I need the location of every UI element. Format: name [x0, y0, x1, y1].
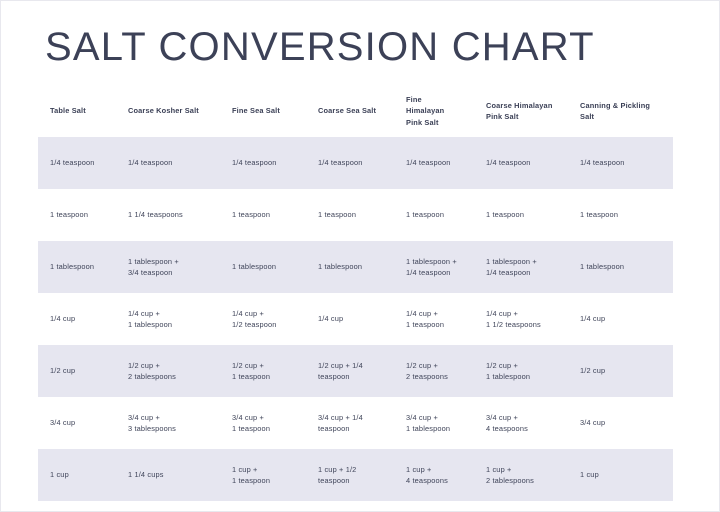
- table-cell-coarse_himalayan_pink_salt: 1/4 cup +1 1/2 teaspoons: [474, 308, 568, 331]
- table-cell-line: 4 teaspoons: [406, 475, 466, 487]
- table-cell-coarse_himalayan_pink_salt: 1 teaspoon: [474, 209, 568, 221]
- table-cell-line: 3/4 cup + 1/4: [318, 412, 386, 424]
- table-cell-line: 1 teaspoon: [50, 209, 108, 221]
- table-cell-line: 1/4 teaspoon: [580, 157, 665, 169]
- table-cell-line: 1 tablespoon: [50, 261, 108, 273]
- column-header-coarse_himalayan_pink_salt: Coarse HimalayanPink Salt: [474, 100, 568, 123]
- column-header-line: Himalayan: [406, 105, 466, 117]
- table-cell-line: 3/4 cup +: [486, 412, 560, 424]
- table-cell-coarse_sea_salt: 1/4 teaspoon: [306, 157, 394, 169]
- table-cell-fine_sea_salt: 1/2 cup +1 teaspoon: [220, 360, 306, 383]
- table-cell-line: 1 teaspoon: [318, 209, 386, 221]
- table-cell-fine_sea_salt: 1/4 teaspoon: [220, 157, 306, 169]
- table-cell-fine_himalayan_pink_salt: 1/4 teaspoon: [394, 157, 474, 169]
- table-cell-table_salt: 1/4 cup: [38, 313, 116, 325]
- table-cell-coarse_kosher_salt: 1 1/4 teaspoons: [116, 209, 220, 221]
- table-cell-canning_pickling_salt: 1 tablespoon: [568, 261, 673, 273]
- column-header-line: Table Salt: [50, 105, 108, 117]
- table-cell-line: 1 cup: [580, 469, 665, 481]
- table-cell-fine_himalayan_pink_salt: 1/4 cup +1 teaspoon: [394, 308, 474, 331]
- table-cell-line: 1 teaspoon: [486, 209, 560, 221]
- table-cell-line: 3/4 cup: [580, 417, 665, 429]
- column-header-line: Pink Salt: [486, 111, 560, 123]
- table-cell-coarse_himalayan_pink_salt: 1 tablespoon +1/4 teaspoon: [474, 256, 568, 279]
- table-cell-fine_himalayan_pink_salt: 1 teaspoon: [394, 209, 474, 221]
- table-cell-line: 1 tablespoon: [232, 261, 298, 273]
- table-row: 1 tablespoon1 tablespoon +3/4 teaspoon1 …: [38, 241, 673, 293]
- table-cell-line: 1/2 cup +: [232, 360, 298, 372]
- column-header-line: Coarse Kosher Salt: [128, 105, 212, 117]
- table-cell-line: 1 tablespoon: [128, 319, 212, 331]
- table-cell-fine_himalayan_pink_salt: 3/4 cup +1 tablespoon: [394, 412, 474, 435]
- table-cell-line: 1/4 teaspoon: [128, 157, 212, 169]
- table-cell-line: 1 tablespoon: [580, 261, 665, 273]
- column-header-fine_himalayan_pink_salt: FineHimalayanPink Salt: [394, 94, 474, 129]
- table-cell-table_salt: 1 cup: [38, 469, 116, 481]
- table-cell-coarse_kosher_salt: 1 tablespoon +3/4 teaspoon: [116, 256, 220, 279]
- table-cell-coarse_sea_salt: 1 teaspoon: [306, 209, 394, 221]
- table-cell-table_salt: 1/2 cup: [38, 365, 116, 377]
- table-cell-fine_himalayan_pink_salt: 1 cup +4 teaspoons: [394, 464, 474, 487]
- table-cell-line: 1 tablespoon +: [486, 256, 560, 268]
- table-row: 1 cup1 1/4 cups1 cup +1 teaspoon1 cup + …: [38, 449, 673, 501]
- column-header-coarse_kosher_salt: Coarse Kosher Salt: [116, 105, 220, 117]
- table-cell-line: 1/2 cup: [50, 365, 108, 377]
- table-cell-line: 1/4 teaspoon: [486, 267, 560, 279]
- table-cell-table_salt: 3/4 cup: [38, 417, 116, 429]
- table-cell-line: 1 1/2 teaspoons: [486, 319, 560, 331]
- table-cell-fine_sea_salt: 1/4 cup +1/2 teaspoon: [220, 308, 306, 331]
- table-cell-line: 1 teaspoon: [406, 319, 466, 331]
- table-cell-line: 1/2 cup +: [406, 360, 466, 372]
- table-cell-fine_himalayan_pink_salt: 1 tablespoon +1/4 teaspoon: [394, 256, 474, 279]
- table-cell-canning_pickling_salt: 1 cup: [568, 469, 673, 481]
- table-cell-line: 2 tablespoons: [486, 475, 560, 487]
- conversion-table: Table SaltCoarse Kosher SaltFine Sea Sal…: [38, 85, 673, 512]
- table-cell-coarse_kosher_salt: 1/4 teaspoon: [116, 157, 220, 169]
- table-cell-line: 3/4 cup +: [406, 412, 466, 424]
- table-cell-line: 1/4 teaspoon: [406, 267, 466, 279]
- table-cell-line: 3/4 cup +: [232, 412, 298, 424]
- table-cell-table_salt: 1 tablespoon: [38, 261, 116, 273]
- table-cell-line: 1/2 cup +: [486, 360, 560, 372]
- table-cell-line: 1 cup +: [486, 464, 560, 476]
- table-cell-coarse_himalayan_pink_salt: 1/2 cup +1 tablespoon: [474, 360, 568, 383]
- table-cell-line: 1/4 cup +: [128, 308, 212, 320]
- column-header-line: Fine: [406, 94, 466, 106]
- table-cell-line: 4 teaspoons: [486, 423, 560, 435]
- table-cell-line: 1 cup: [50, 469, 108, 481]
- column-header-line: Fine Sea Salt: [232, 105, 298, 117]
- table-cell-line: 1 cup + 1/2: [318, 464, 386, 476]
- table-cell-line: 1/4 teaspoon: [232, 157, 298, 169]
- column-header-canning_pickling_salt: Canning & PicklingSalt: [568, 100, 673, 123]
- table-cell-line: 1 1/4 teaspoons: [128, 209, 212, 221]
- table-cell-line: 1/4 cup: [318, 313, 386, 325]
- column-header-table_salt: Table Salt: [38, 105, 116, 117]
- table-cell-line: 3/4 teaspoon: [128, 267, 212, 279]
- table-cell-fine_sea_salt: 1 tablespoon: [220, 261, 306, 273]
- table-cell-coarse_kosher_salt: 1/2 cup +2 tablespoons: [116, 360, 220, 383]
- table-cell-line: 1 1/4 cups: [128, 469, 212, 481]
- table-cell-coarse_himalayan_pink_salt: 1/4 teaspoon: [474, 157, 568, 169]
- table-cell-coarse_sea_salt: 1/4 cup: [306, 313, 394, 325]
- table-cell-canning_pickling_salt: 1/4 cup: [568, 313, 673, 325]
- table-cell-line: 1/4 cup +: [406, 308, 466, 320]
- table-cell-line: 3/4 cup +: [128, 412, 212, 424]
- table-cell-line: 2 teaspoons: [406, 371, 466, 383]
- table-cell-line: 1 teaspoon: [232, 371, 298, 383]
- table-cell-line: 1 tablespoon: [486, 371, 560, 383]
- table-cell-line: 1/2 cup +: [128, 360, 212, 372]
- table-cell-coarse_himalayan_pink_salt: 3/4 cup +4 teaspoons: [474, 412, 568, 435]
- table-cell-fine_sea_salt: 1 cup +1 teaspoon: [220, 464, 306, 487]
- column-header-line: Coarse Himalayan: [486, 100, 560, 112]
- table-cell-canning_pickling_salt: 3/4 cup: [568, 417, 673, 429]
- table-cell-line: teaspoon: [318, 423, 386, 435]
- table-cell-line: 1 cup +: [406, 464, 466, 476]
- table-cell-line: 1/2 cup + 1/4: [318, 360, 386, 372]
- table-cell-fine_himalayan_pink_salt: 1/2 cup +2 teaspoons: [394, 360, 474, 383]
- table-cell-line: 1/2 teaspoon: [232, 319, 298, 331]
- table-cell-line: 1 tablespoon +: [406, 256, 466, 268]
- table-row: 1/4 teaspoon1/4 teaspoon1/4 teaspoon1/4 …: [38, 137, 673, 189]
- salt-conversion-chart-page: SALT CONVERSION CHART Table SaltCoarse K…: [0, 0, 720, 512]
- table-cell-line: 1 tablespoon +: [128, 256, 212, 268]
- table-cell-line: 3 tablespoons: [128, 423, 212, 435]
- table-cell-coarse_sea_salt: 1 cup + 1/2teaspoon: [306, 464, 394, 487]
- table-cell-coarse_kosher_salt: 1 1/4 cups: [116, 469, 220, 481]
- table-header-row: Table SaltCoarse Kosher SaltFine Sea Sal…: [38, 85, 673, 137]
- table-cell-line: 1 teaspoon: [232, 209, 298, 221]
- table-cell-line: 1/2 cup: [580, 365, 665, 377]
- table-cell-line: teaspoon: [318, 475, 386, 487]
- table-cell-canning_pickling_salt: 1/4 teaspoon: [568, 157, 673, 169]
- table-cell-line: 1/4 teaspoon: [486, 157, 560, 169]
- table-cell-fine_sea_salt: 1 teaspoon: [220, 209, 306, 221]
- table-cell-line: 2 tablespoons: [128, 371, 212, 383]
- table-cell-line: 1 cup +: [232, 464, 298, 476]
- table-cell-coarse_kosher_salt: 3/4 cup +3 tablespoons: [116, 412, 220, 435]
- table-cell-table_salt: 1/4 teaspoon: [38, 157, 116, 169]
- table-cell-line: 1/4 cup +: [232, 308, 298, 320]
- column-header-line: Coarse Sea Salt: [318, 105, 386, 117]
- table-cell-line: 1/4 teaspoon: [318, 157, 386, 169]
- table-cell-line: 1/4 cup +: [486, 308, 560, 320]
- column-header-line: Canning & Pickling: [580, 100, 665, 112]
- table-cell-coarse_sea_salt: 1 tablespoon: [306, 261, 394, 273]
- table-row: 1/2 cup1/2 cup +2 tablespoons1/2 cup +1 …: [38, 345, 673, 397]
- table-cell-line: 1 tablespoon: [406, 423, 466, 435]
- table-cell-line: 1 teaspoon: [232, 475, 298, 487]
- table-cell-table_salt: 1 teaspoon: [38, 209, 116, 221]
- table-cell-line: teaspoon: [318, 371, 386, 383]
- table-cell-fine_sea_salt: 3/4 cup +1 teaspoon: [220, 412, 306, 435]
- table-body: 1/4 teaspoon1/4 teaspoon1/4 teaspoon1/4 …: [38, 137, 673, 512]
- table-row: 2 cups2 1/2 cups2 cups +1 tablespoon2 cu…: [38, 501, 673, 512]
- table-cell-line: 1 teaspoon: [232, 423, 298, 435]
- column-header-coarse_sea_salt: Coarse Sea Salt: [306, 105, 394, 117]
- column-header-fine_sea_salt: Fine Sea Salt: [220, 105, 306, 117]
- table-row: 1/4 cup1/4 cup +1 tablespoon1/4 cup +1/2…: [38, 293, 673, 345]
- column-header-line: Pink Salt: [406, 117, 466, 129]
- column-header-line: Salt: [580, 111, 665, 123]
- table-cell-line: 1/4 cup: [50, 313, 108, 325]
- table-cell-coarse_sea_salt: 1/2 cup + 1/4teaspoon: [306, 360, 394, 383]
- table-cell-line: 1/4 teaspoon: [406, 157, 466, 169]
- table-cell-line: 1/4 cup: [580, 313, 665, 325]
- table-cell-coarse_sea_salt: 3/4 cup + 1/4teaspoon: [306, 412, 394, 435]
- table-cell-line: 1 tablespoon: [318, 261, 386, 273]
- table-row: 1 teaspoon1 1/4 teaspoons1 teaspoon1 tea…: [38, 189, 673, 241]
- table-cell-canning_pickling_salt: 1/2 cup: [568, 365, 673, 377]
- table-cell-coarse_kosher_salt: 1/4 cup +1 tablespoon: [116, 308, 220, 331]
- table-cell-line: 1 teaspoon: [580, 209, 665, 221]
- table-cell-canning_pickling_salt: 1 teaspoon: [568, 209, 673, 221]
- table-cell-line: 1/4 teaspoon: [50, 157, 108, 169]
- table-cell-line: 1 teaspoon: [406, 209, 466, 221]
- table-cell-coarse_himalayan_pink_salt: 1 cup +2 tablespoons: [474, 464, 568, 487]
- table-cell-line: 3/4 cup: [50, 417, 108, 429]
- table-row: 3/4 cup3/4 cup +3 tablespoons3/4 cup +1 …: [38, 397, 673, 449]
- page-title: SALT CONVERSION CHART: [45, 23, 595, 71]
